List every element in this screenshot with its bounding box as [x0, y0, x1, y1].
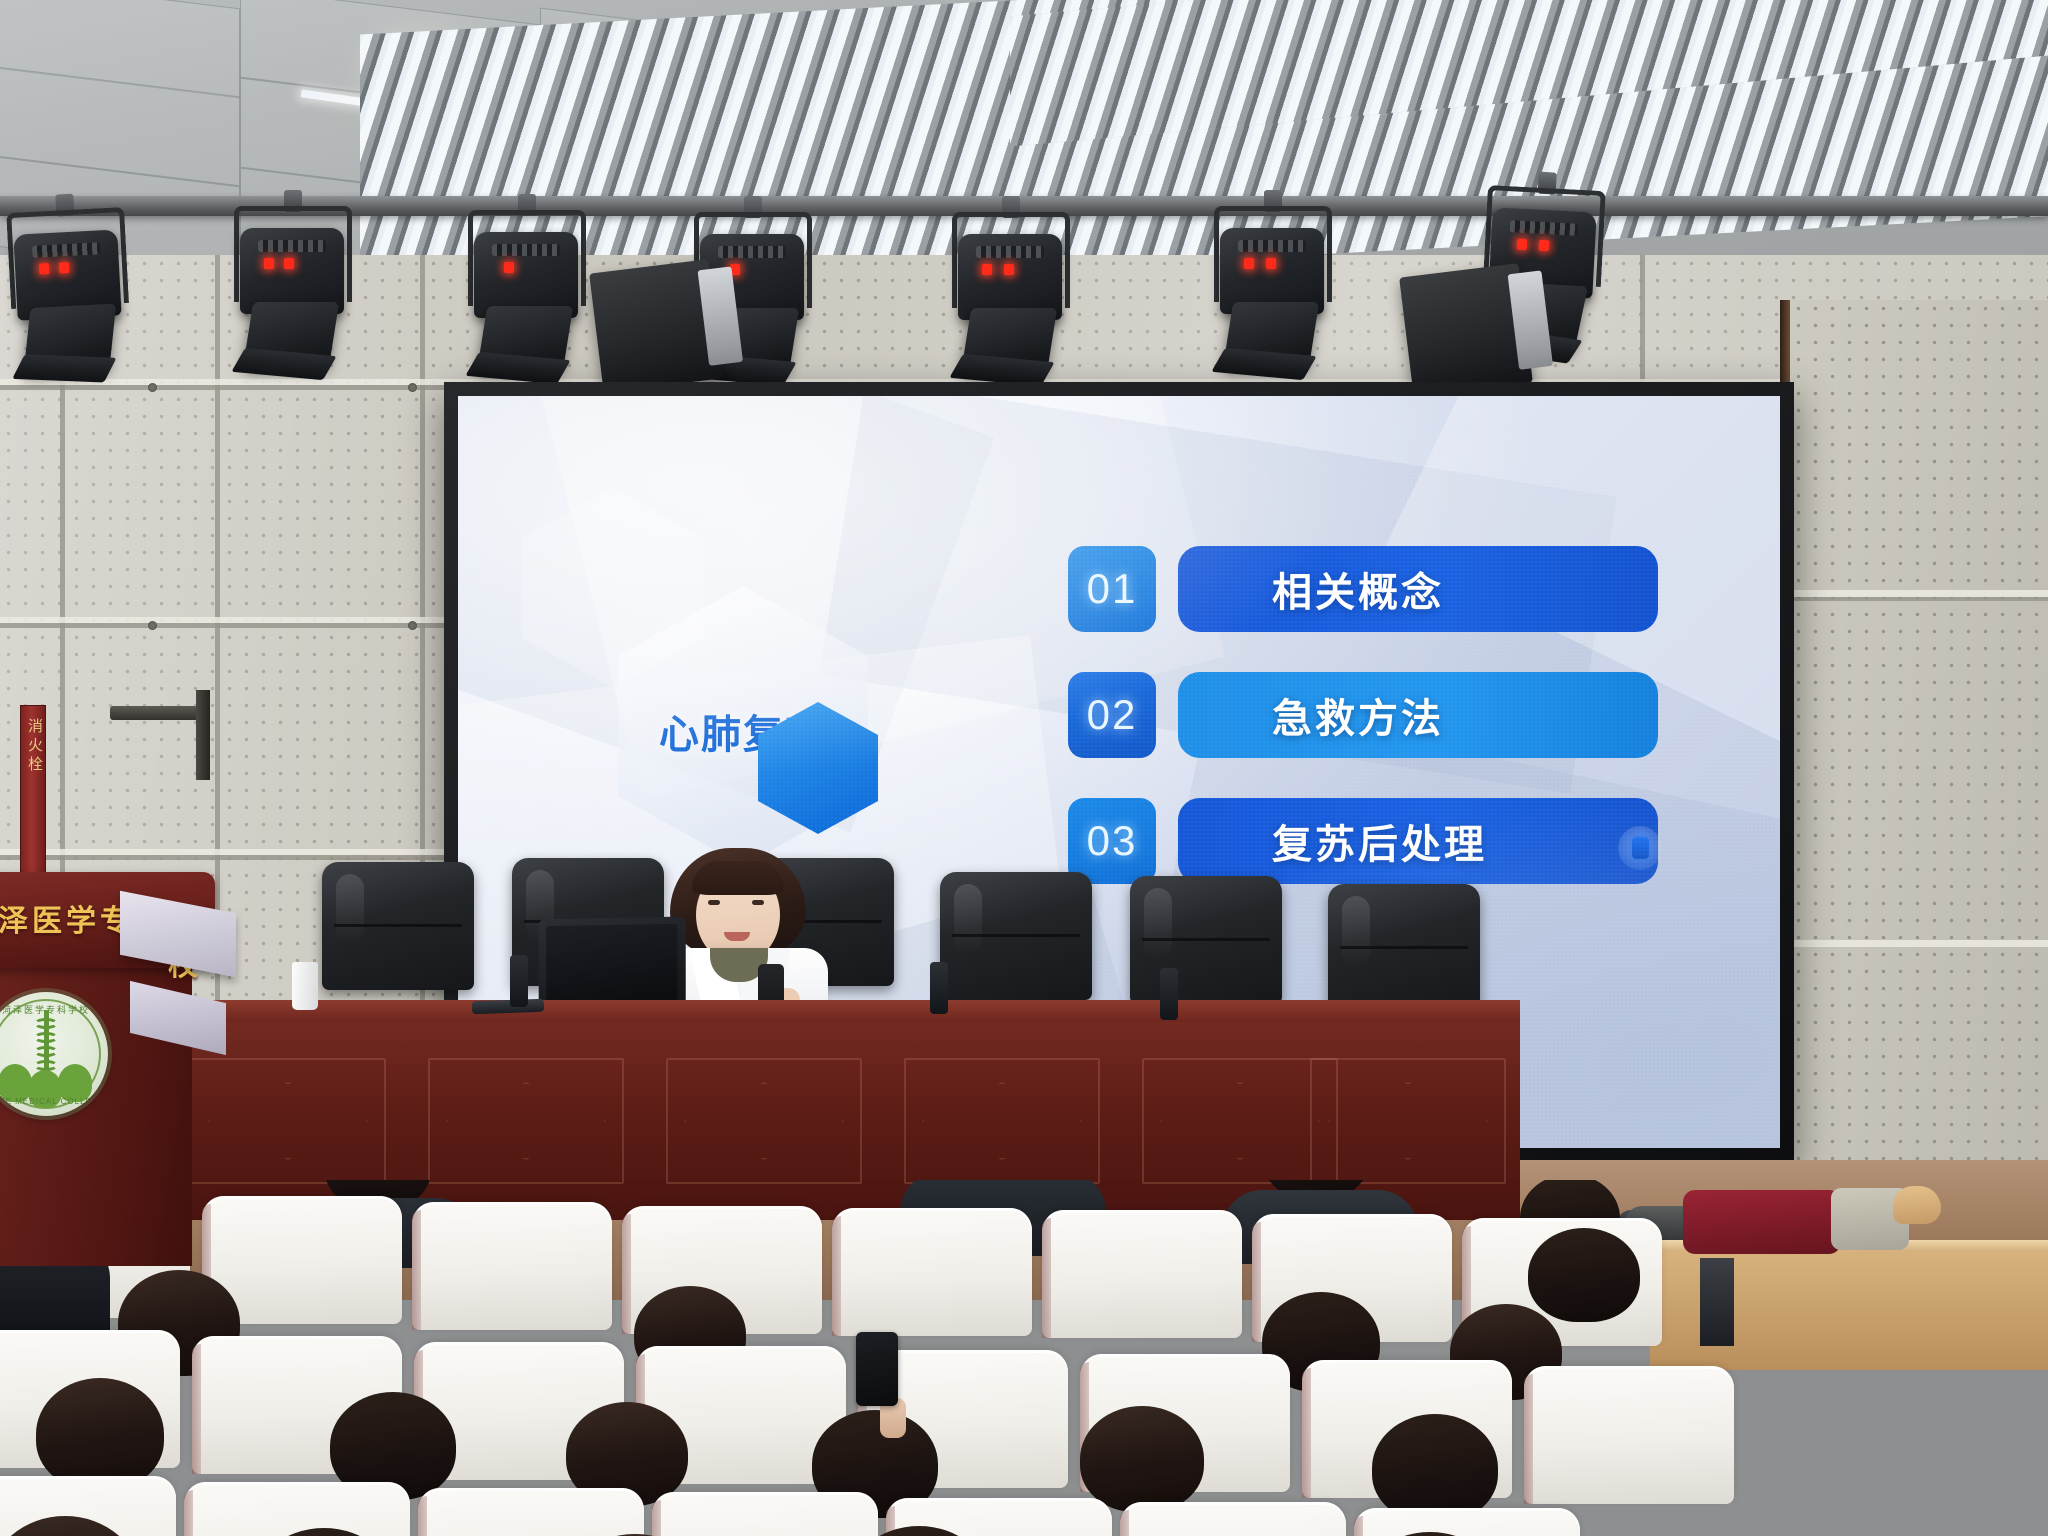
audience-seat[interactable]: [832, 1208, 1032, 1336]
desk-microphone: [510, 955, 528, 1007]
chair: [940, 872, 1092, 1000]
agenda-label: 相关概念: [1178, 546, 1658, 632]
desk-microphone: [1160, 968, 1178, 1020]
audience-seat[interactable]: [412, 1202, 612, 1330]
audience-seat[interactable]: [418, 1488, 644, 1536]
agenda-item[interactable]: 03 复苏后处理: [1068, 798, 1658, 884]
paper-cup: [292, 962, 318, 1010]
chair: [1130, 876, 1282, 1004]
audience-head: [36, 1378, 164, 1490]
fire-sign-label: 消火栓: [21, 706, 45, 775]
audience-seat[interactable]: [1354, 1508, 1580, 1536]
desk-microphone: [930, 962, 948, 1014]
smartphone-on-table[interactable]: [472, 999, 544, 1015]
ceiling-speaker: [1399, 263, 1533, 397]
emblem-english-name: HEZE MEDICAL COLLEGE: [0, 1097, 108, 1106]
audience-seat[interactable]: [1120, 1502, 1346, 1536]
emblem-chinese-name: 菏泽医学专科学校: [0, 1003, 108, 1016]
slide-bullet-icon: [1618, 826, 1662, 870]
stage-light: [4, 207, 134, 363]
audience-seat[interactable]: [652, 1492, 878, 1536]
podium: 泽医学专科学校 菏泽医学专科学校 HEZE MEDICAL COLLEGE: [0, 872, 230, 1292]
agenda-number: 02: [1068, 672, 1156, 758]
agenda-label: 急救方法: [1178, 672, 1658, 758]
agenda-label: 复苏后处理: [1178, 798, 1658, 884]
audience-seat[interactable]: [184, 1482, 410, 1536]
agenda-number: 01: [1068, 546, 1156, 632]
agenda-item[interactable]: 02 急救方法: [1068, 672, 1658, 758]
stage-light: [1212, 206, 1334, 356]
stage-light: [950, 212, 1072, 362]
audience-head: [1528, 1228, 1640, 1322]
audience-seat[interactable]: [1524, 1366, 1734, 1504]
stage-light: [466, 210, 588, 360]
ceiling-speaker: [589, 259, 723, 393]
institution-emblem: 菏泽医学专科学校 HEZE MEDICAL COLLEGE: [0, 992, 108, 1116]
stage-light: [232, 206, 354, 356]
lecture-hall-photo: 消火栓: [0, 0, 2048, 1536]
chair: [322, 862, 474, 990]
agenda-item[interactable]: 01 相关概念: [1068, 546, 1658, 632]
audience-phone[interactable]: [856, 1332, 898, 1406]
audience-seat[interactable]: [1042, 1210, 1242, 1338]
right-wall-panel: [1790, 300, 2048, 1200]
audience-head: [1372, 1414, 1498, 1522]
wall-pipe: [110, 706, 206, 720]
wall-pipe-vertical: [196, 690, 210, 780]
agenda-list: 01 相关概念 02 急救方法 03 复苏后处理: [1068, 546, 1658, 924]
audience-head: [1080, 1406, 1204, 1512]
audience-seating: [0, 1180, 2048, 1536]
chair: [1328, 884, 1480, 1012]
